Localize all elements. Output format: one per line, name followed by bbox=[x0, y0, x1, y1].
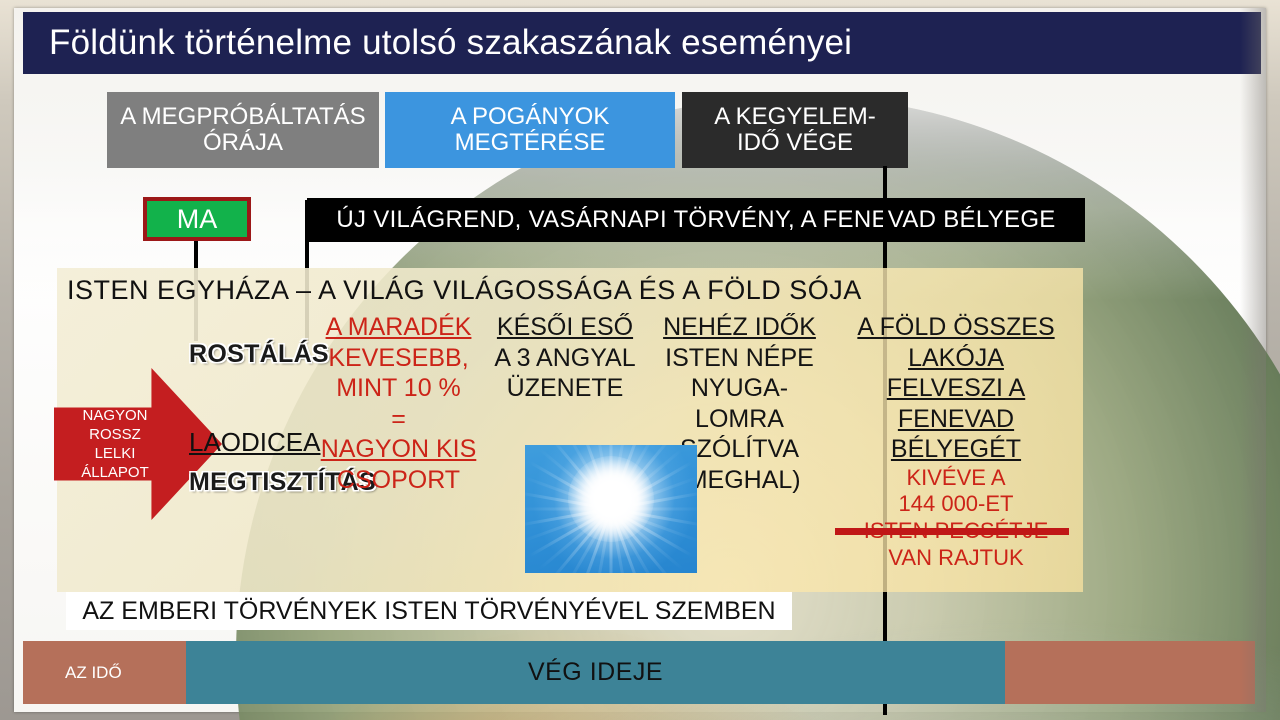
today-badge[interactable]: MA bbox=[143, 197, 251, 241]
church-state-stack: ROSTÁLÁS LAODICEA MEGTISZTÍTÁS bbox=[189, 312, 317, 497]
top-box-pagans[interactable]: A POGÁNYOK MEGTÉRÉSE bbox=[385, 92, 675, 168]
page-title: Földünk történelme utolsó szakaszának es… bbox=[49, 23, 852, 63]
new-world-order-banner: ÚJ VILÁGREND, VASÁRNAPI TÖRVÉNY, A FENEV… bbox=[307, 198, 1085, 242]
main-content-panel: ISTEN EGYHÁZA – A VILÁG VILÁGOSSÁGA ÉS A… bbox=[57, 268, 1083, 592]
slide-canvas: Földünk történelme utolsó szakaszának es… bbox=[0, 0, 1280, 720]
mark-line-3: FELVESZI A bbox=[829, 373, 1083, 404]
remnant-line-2: KEVESEBB, bbox=[317, 343, 480, 374]
label-purification: MEGTISZTÍTÁS bbox=[189, 468, 317, 497]
timeline-segment-end-time-label: VÉG IDEJE bbox=[528, 658, 663, 687]
latter-rain-line-3: ÜZENETE bbox=[480, 373, 650, 404]
mark-line-2: LAKÓJA bbox=[829, 343, 1083, 374]
timeline-footer: AZ IDŐ VÉG IDEJE bbox=[23, 641, 1255, 704]
timeline-segment-end-time: VÉG IDEJE bbox=[186, 641, 1005, 704]
arrow-line-3: LELKI bbox=[95, 445, 136, 462]
remnant-line-4: = bbox=[317, 404, 480, 435]
mark-line-7: 144 000-ET bbox=[829, 491, 1083, 518]
column-remnant: A MARADÉK KEVESEBB, MINT 10 % = NAGYON K… bbox=[317, 312, 480, 592]
arrow-line-1: NAGYON bbox=[82, 407, 147, 424]
top-box-trial-hour-line1: A MEGPRÓBÁLTATÁS bbox=[120, 104, 365, 130]
mark-red-divider bbox=[835, 528, 1069, 535]
top-box-trial-hour-line2: ÓRÁJA bbox=[203, 130, 283, 156]
top-box-trial-hour[interactable]: A MEGPRÓBÁLTATÁS ÓRÁJA bbox=[107, 92, 379, 168]
panel-heading-row: ISTEN EGYHÁZA – A VILÁG VILÁGOSSÁGA ÉS A… bbox=[57, 268, 1083, 312]
remnant-line-6: CSOPORT bbox=[317, 465, 480, 496]
slide-title-bar: Földünk történelme utolsó szakaszának es… bbox=[23, 12, 1261, 74]
red-arrow-label: NAGYON ROSSZ LELKI ÁLLAPOT bbox=[81, 406, 149, 483]
mark-red-lines: KIVÉVE A 144 000-ET ISTEN PECSÉTJE VAN R… bbox=[829, 465, 1083, 572]
hard-times-line-4: LOMRA bbox=[650, 404, 829, 435]
latter-rain-line-2: A 3 ANGYAL bbox=[480, 343, 650, 374]
mark-line-5: BÉLYEGÉT bbox=[829, 434, 1083, 465]
mark-dark-lines: A FÖLD ÖSSZES LAKÓJA FELVESZI A FENEVAD … bbox=[829, 312, 1083, 465]
hard-times-line-1: NEHÉZ IDŐK bbox=[650, 312, 829, 343]
new-world-order-banner-text: ÚJ VILÁGREND, VASÁRNAPI TÖRVÉNY, A FENEV… bbox=[336, 206, 1055, 234]
column-mark-of-beast: A FÖLD ÖSSZES LAKÓJA FELVESZI A FENEVAD … bbox=[829, 312, 1083, 592]
top-box-grace-end[interactable]: A KEGYELEM- IDŐ VÉGE bbox=[682, 92, 908, 168]
remnant-line-5: NAGYON KIS bbox=[317, 434, 480, 465]
human-laws-bar-text: AZ EMBERI TÖRVÉNYEK ISTEN TÖRVÉNYÉVEL SZ… bbox=[82, 597, 775, 626]
mark-line-9: VAN RAJTUK bbox=[829, 545, 1083, 572]
latter-rain-line-1: KÉSŐI ESŐ bbox=[480, 312, 650, 343]
mark-line-4: FENEVAD bbox=[829, 404, 1083, 435]
mark-line-6: KIVÉVE A bbox=[829, 465, 1083, 492]
arrow-line-2: ROSSZ bbox=[89, 426, 141, 443]
remnant-line-3: MINT 10 % bbox=[317, 373, 480, 404]
today-badge-label: MA bbox=[177, 204, 218, 235]
timeline-segment-time: AZ IDŐ bbox=[23, 641, 186, 704]
remnant-line-1: A MARADÉK bbox=[317, 312, 480, 343]
top-box-pagans-line1: A POGÁNYOK bbox=[451, 104, 610, 130]
top-box-grace-end-line2: IDŐ VÉGE bbox=[737, 130, 853, 156]
top-box-grace-end-line1: A KEGYELEM- bbox=[714, 104, 875, 130]
sun-burst-image bbox=[525, 445, 697, 573]
human-laws-bar: AZ EMBERI TÖRVÉNYEK ISTEN TÖRVÉNYÉVEL SZ… bbox=[66, 592, 792, 630]
label-laodicea: LAODICEA bbox=[189, 427, 317, 458]
panel-heading: ISTEN EGYHÁZA – A VILÁG VILÁGOSSÁGA ÉS A… bbox=[67, 275, 862, 306]
label-sifting: ROSTÁLÁS bbox=[189, 340, 317, 369]
timeline-segment-time-label: AZ IDŐ bbox=[65, 663, 122, 683]
hard-times-line-2: ISTEN NÉPE bbox=[650, 343, 829, 374]
hard-times-line-3: NYUGA- bbox=[650, 373, 829, 404]
arrow-line-4: ÁLLAPOT bbox=[81, 464, 149, 481]
top-box-pagans-line2: MEGTÉRÉSE bbox=[455, 130, 606, 156]
mark-line-1: A FÖLD ÖSSZES bbox=[829, 312, 1083, 343]
timeline-segment-after bbox=[1005, 641, 1255, 704]
column-church-state: NAGYON ROSSZ LELKI ÁLLAPOT ROSTÁLÁS LAOD… bbox=[57, 312, 317, 592]
